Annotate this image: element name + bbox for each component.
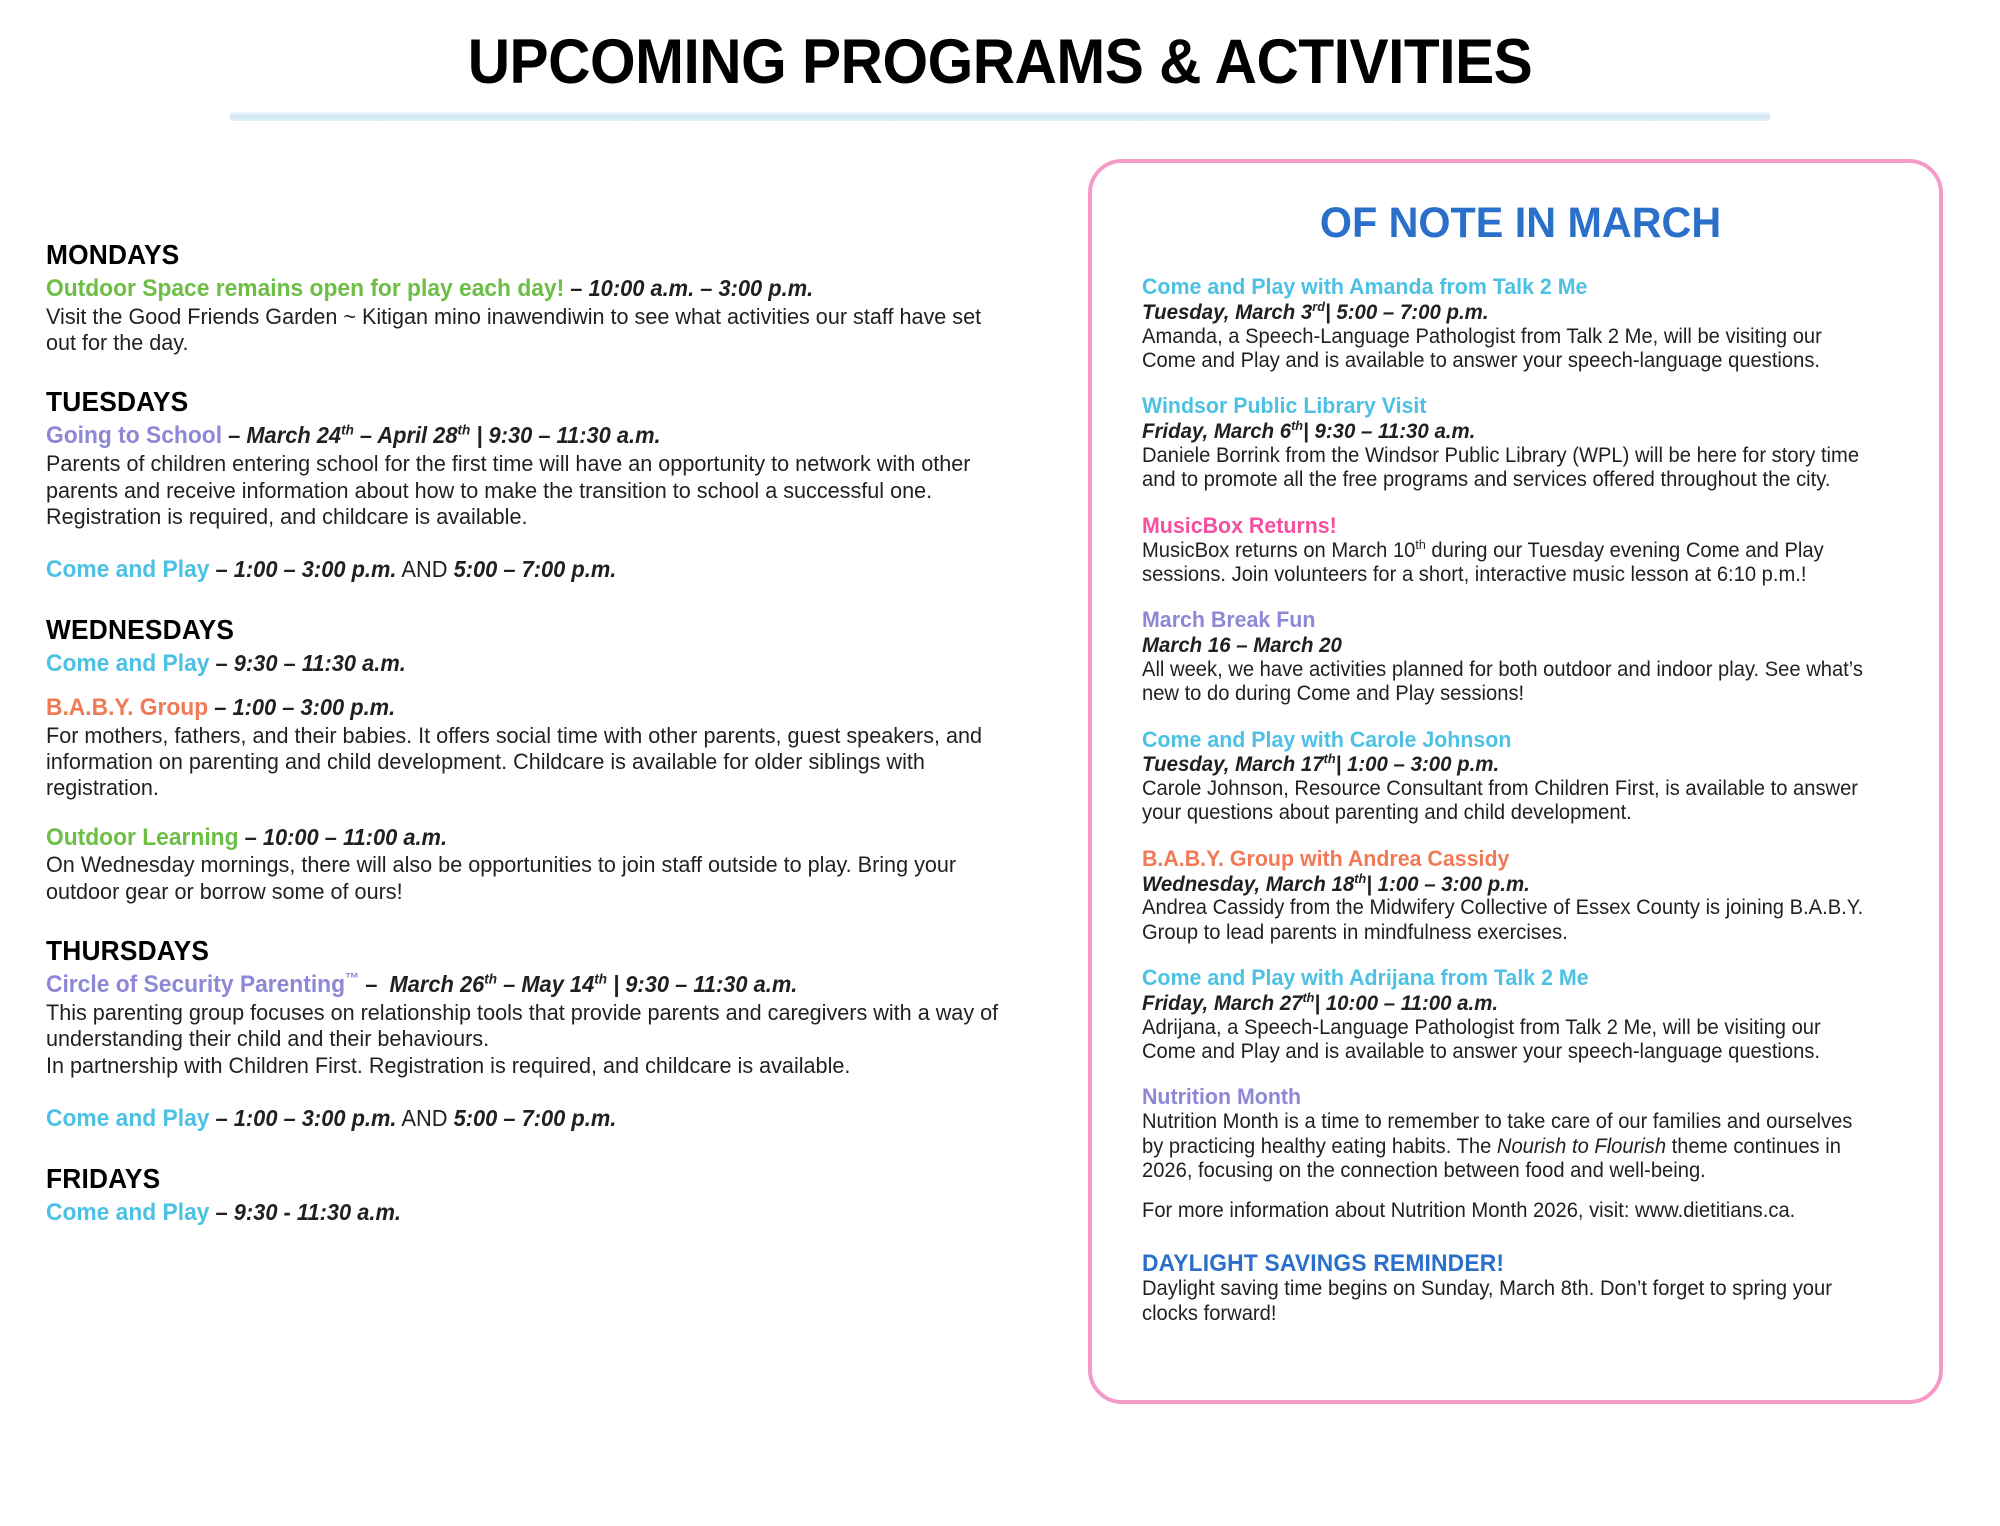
note-heading: Come and Play with Carole Johnson — [1142, 727, 1861, 753]
program-dash: – — [216, 1199, 228, 1225]
program-daterange: March 26th – May 14th — [390, 971, 607, 997]
note-body: MusicBox returns on March 10th during ou… — [1142, 539, 1869, 588]
program-entry: Circle of Security Parenting™ – March 26… — [46, 971, 1050, 1079]
weekly-schedule-column: MONDAYS Outdoor Space remains open for p… — [0, 121, 1050, 1257]
note-body: All week, we have activities planned for… — [1142, 658, 1869, 707]
program-description: For mothers, fathers, and their babies. … — [46, 723, 1006, 802]
note-heading: MusicBox Returns! — [1142, 513, 1861, 539]
day-heading: WEDNESDAYS — [46, 614, 990, 646]
note-item: Windsor Public Library Visit Friday, Mar… — [1142, 393, 1899, 492]
program-title: B.A.B.Y. Group — [46, 694, 208, 721]
program-entry-line: Outdoor Space remains open for play each… — [46, 275, 1000, 303]
note-item: Come and Play with Carole Johnson Tuesda… — [1142, 727, 1899, 826]
note-item-daylight: DAYLIGHT SAVINGS REMINDER! Daylight savi… — [1142, 1250, 1899, 1326]
day-heading: TUESDAYS — [46, 386, 990, 418]
day-heading: MONDAYS — [46, 239, 990, 271]
program-time: 1:00 – 3:00 p.m. — [232, 694, 395, 720]
of-note-column: OF NOTE IN MARCH Come and Play with Aman… — [1050, 121, 1950, 1404]
note-date: Friday, March 6th| 9:30 – 11:30 a.m. — [1142, 419, 1861, 444]
program-title: Come and Play — [46, 1105, 209, 1132]
program-dash: – — [216, 556, 228, 582]
note-body: Amanda, a Speech-Language Pathologist fr… — [1142, 325, 1869, 374]
program-description: This parenting group focuses on relation… — [46, 1000, 1006, 1079]
program-dash: – — [216, 650, 228, 676]
note-heading: DAYLIGHT SAVINGS REMINDER! — [1142, 1250, 1861, 1278]
program-dash: – — [245, 824, 257, 850]
program-title: Outdoor Space remains open for play each… — [46, 275, 564, 302]
program-conjunction: AND — [401, 556, 447, 582]
program-entry-line: Circle of Security Parenting™ – March 26… — [46, 971, 1000, 999]
program-entry-line: Come and Play – 9:30 - 11:30 a.m. — [46, 1199, 1000, 1227]
note-item: B.A.B.Y. Group with Andrea Cassidy Wedne… — [1142, 846, 1899, 945]
note-date: March 16 – March 20 — [1142, 633, 1861, 658]
program-separator: | — [476, 422, 482, 448]
program-title: Come and Play — [46, 556, 209, 583]
day-block-thursdays: THURSDAYS Circle of Security Parenting™ … — [46, 935, 1050, 1133]
program-time: 9:30 – 11:30 a.m. — [489, 422, 661, 448]
program-time: 1:00 – 3:00 p.m. — [234, 1105, 397, 1131]
program-title: Going to School — [46, 422, 222, 449]
content-columns: MONDAYS Outdoor Space remains open for p… — [0, 121, 2000, 1404]
program-time: 1:00 – 3:00 p.m. — [234, 556, 397, 582]
program-dash: – — [214, 694, 226, 720]
note-heading: March Break Fun — [1142, 607, 1861, 633]
program-entry-line: Going to School – March 24th – April 28t… — [46, 422, 1000, 450]
program-title: Come and Play — [46, 650, 209, 677]
program-entry: Come and Play – 9:30 – 11:30 a.m. — [46, 650, 1050, 678]
program-entry-line: Come and Play – 9:30 – 11:30 a.m. — [46, 650, 1000, 678]
note-heading: Windsor Public Library Visit — [1142, 393, 1861, 419]
program-time-2: 5:00 – 7:00 p.m. — [454, 556, 617, 582]
note-heading: Come and Play with Adrijana from Talk 2 … — [1142, 965, 1861, 991]
program-time: 9:30 – 11:30 a.m. — [625, 971, 797, 997]
program-dash: – — [216, 1105, 228, 1131]
program-entry-line: Come and Play – 1:00 – 3:00 p.m. AND 5:0… — [46, 556, 1000, 584]
program-entry: Come and Play – 9:30 - 11:30 a.m. — [46, 1199, 1050, 1227]
program-entry: Come and Play – 1:00 – 3:00 p.m. AND 5:0… — [46, 1105, 1050, 1133]
note-date: Tuesday, March 17th| 1:00 – 3:00 p.m. — [1142, 752, 1861, 777]
note-body-extra: For more information about Nutrition Mon… — [1142, 1199, 1869, 1223]
note-item: Come and Play with Amanda from Talk 2 Me… — [1142, 274, 1899, 373]
note-heading: Come and Play with Amanda from Talk 2 Me — [1142, 274, 1861, 300]
paragraph-spacer — [1142, 1183, 1899, 1199]
note-item-nutrition: Nutrition Month Nutrition Month is a tim… — [1142, 1084, 1899, 1223]
program-daterange: March 24th – April 28th — [246, 422, 470, 448]
program-time: 10:00 – 11:00 a.m. — [263, 824, 447, 850]
note-body: Daylight saving time begins on Sunday, M… — [1142, 1277, 1869, 1326]
program-time: 10:00 a.m. – 3:00 p.m. — [589, 275, 814, 301]
program-entry: Going to School – March 24th – April 28t… — [46, 422, 1050, 530]
day-heading: THURSDAYS — [46, 935, 990, 967]
day-block-mondays: MONDAYS Outdoor Space remains open for p… — [46, 239, 1050, 356]
note-body: Andrea Cassidy from the Midwifery Collec… — [1142, 896, 1869, 945]
program-separator: | — [613, 971, 619, 997]
note-item: Come and Play with Adrijana from Talk 2 … — [1142, 965, 1899, 1064]
program-title: Circle of Security Parenting™ — [46, 971, 359, 998]
note-heading: B.A.B.Y. Group with Andrea Cassidy — [1142, 846, 1861, 872]
program-time-2: 5:00 – 7:00 p.m. — [454, 1105, 617, 1131]
program-dash: – — [570, 275, 582, 301]
program-time: 9:30 – 11:30 a.m. — [234, 650, 406, 676]
note-heading: Nutrition Month — [1142, 1084, 1861, 1110]
program-time: 9:30 - 11:30 a.m. — [234, 1199, 401, 1225]
page-title: UPCOMING PROGRAMS & ACTIVITIES — [70, 26, 1930, 98]
day-block-tuesdays: TUESDAYS Going to School – March 24th – … — [46, 386, 1050, 584]
program-description: On Wednesday mornings, there will also b… — [46, 852, 1006, 905]
program-description: Visit the Good Friends Garden ~ Kitigan … — [46, 304, 1006, 357]
title-divider — [230, 112, 1770, 121]
program-entry-line: B.A.B.Y. Group – 1:00 – 3:00 p.m. — [46, 694, 1000, 722]
day-heading: FRIDAYS — [46, 1163, 990, 1195]
program-title: Outdoor Learning — [46, 824, 239, 851]
note-body: Carole Johnson, Resource Consultant from… — [1142, 777, 1869, 826]
note-date: Wednesday, March 18th| 1:00 – 3:00 p.m. — [1142, 872, 1861, 897]
program-dash: – — [365, 971, 377, 997]
note-body: Nutrition Month is a time to remember to… — [1142, 1110, 1869, 1183]
program-description: Parents of children entering school for … — [46, 451, 1006, 530]
of-note-panel: OF NOTE IN MARCH Come and Play with Aman… — [1088, 159, 1943, 1404]
program-entry: Come and Play – 1:00 – 3:00 p.m. AND 5:0… — [46, 556, 1050, 584]
note-item: March Break Fun March 16 – March 20 All … — [1142, 607, 1899, 706]
program-entry: Outdoor Learning – 10:00 – 11:00 a.m. On… — [46, 824, 1050, 905]
program-title: Come and Play — [46, 1199, 209, 1226]
day-block-wednesdays: WEDNESDAYS Come and Play – 9:30 – 11:30 … — [46, 614, 1050, 905]
program-entry-line: Outdoor Learning – 10:00 – 11:00 a.m. — [46, 824, 1000, 852]
note-item: MusicBox Returns! MusicBox returns on Ma… — [1142, 513, 1899, 588]
note-body: Daniele Borrink from the Windsor Public … — [1142, 444, 1869, 493]
program-entry: Outdoor Space remains open for play each… — [46, 275, 1050, 356]
day-block-fridays: FRIDAYS Come and Play – 9:30 - 11:30 a.m… — [46, 1163, 1050, 1227]
program-entry: B.A.B.Y. Group – 1:00 – 3:00 p.m. For mo… — [46, 694, 1050, 802]
of-note-title: OF NOTE IN MARCH — [1157, 199, 1884, 248]
note-date: Tuesday, March 3rd| 5:00 – 7:00 p.m. — [1142, 300, 1861, 325]
note-date: Friday, March 27th| 10:00 – 11:00 a.m. — [1142, 991, 1861, 1016]
program-entry-line: Come and Play – 1:00 – 3:00 p.m. AND 5:0… — [46, 1105, 1000, 1133]
program-dash: – — [228, 422, 240, 448]
program-conjunction: AND — [401, 1105, 447, 1131]
note-body: Adrijana, a Speech-Language Pathologist … — [1142, 1016, 1869, 1065]
